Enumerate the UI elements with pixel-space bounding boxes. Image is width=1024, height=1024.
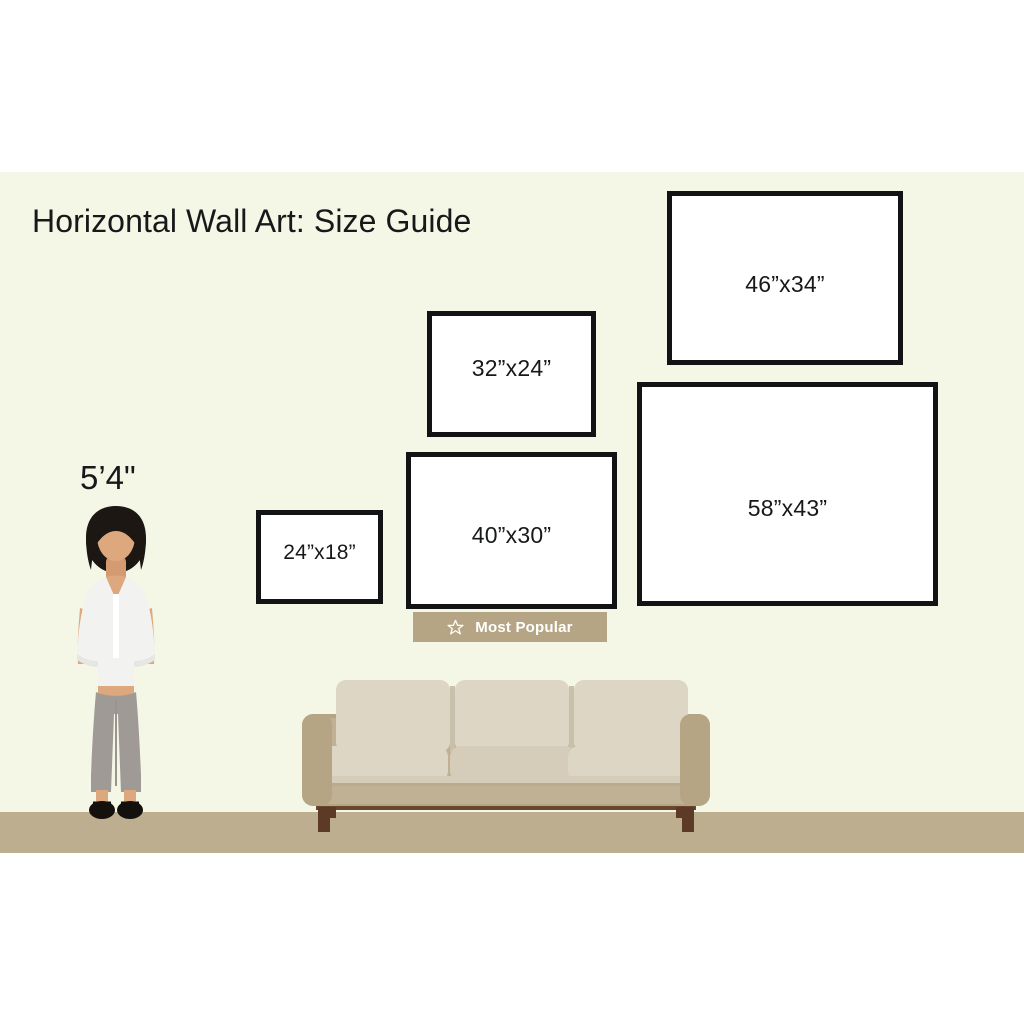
frame-option-46x34[interactable]: 46”x34” [667, 191, 903, 365]
frame-size-label: 58”x43” [748, 495, 827, 522]
frame-size-label: 32”x24” [472, 355, 551, 382]
frame-option-24x18[interactable]: 24”x18” [256, 510, 383, 604]
most-popular-label: Most Popular [475, 619, 572, 636]
page-title: Horizontal Wall Art: Size Guide [32, 203, 471, 240]
frame-size-label: 40”x30” [472, 522, 551, 549]
star-icon [447, 619, 464, 636]
size-guide-canvas: Horizontal Wall Art: Size Guide 5’4" [0, 0, 1024, 1024]
room-scene: Horizontal Wall Art: Size Guide 5’4" [0, 172, 1024, 853]
frame-option-32x24[interactable]: 32”x24” [427, 311, 596, 437]
height-reference-label: 5’4" [80, 459, 136, 497]
standing-woman-figure [58, 504, 174, 824]
frame-option-40x30[interactable]: 40”x30” [406, 452, 617, 609]
sofa-illustration [280, 660, 732, 835]
frame-option-58x43[interactable]: 58”x43” [637, 382, 938, 606]
frame-size-label: 46”x34” [745, 271, 824, 298]
frame-size-label: 24”x18” [283, 541, 356, 565]
most-popular-badge: Most Popular [413, 612, 607, 642]
